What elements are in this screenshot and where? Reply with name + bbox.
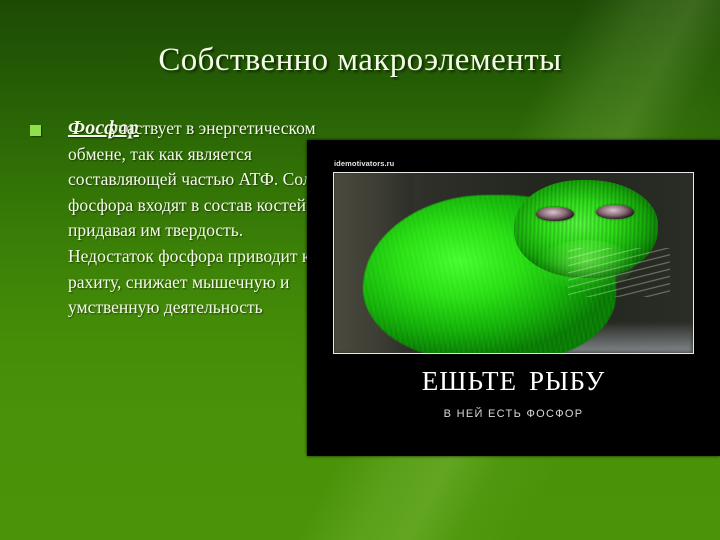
bullet-item-body: участвует в энергетическом обмене, так к… [68,118,321,317]
cat-eye-right [596,205,634,219]
square-bullet-icon [30,125,41,136]
presentation-slide: Собственно макроэлементы Фосфор участвуе… [0,0,720,540]
poster-caption-word-2: РЫБУ [529,366,605,396]
green-pallas-cat-photo [334,173,693,353]
cat-whiskers [568,248,671,297]
poster-subcaption: В НЕЙ ЕСТЬ ФОСФОР [307,407,720,421]
poster-photo-frame [333,172,694,354]
content-placeholder: Фосфор участвует в энергетическом обмене… [28,116,328,321]
slide-title: Собственно макроэлементы [0,40,720,80]
bullet-item-text: Фосфор участвует в энергетическом обмене… [68,118,321,317]
watermark-text: idemotivators.ru [334,159,394,168]
poster-caption-word-1: ЕШЬТЕ [422,366,517,396]
cat-figure [363,173,665,354]
demotivator-poster-image: idemotivators.ru ЕШ [307,140,720,456]
poster-caption: ЕШЬТЕРЫБУ [307,366,720,396]
cat-eye-left [536,207,574,221]
bullet-list-item: Фосфор участвует в энергетическом обмене… [28,116,328,321]
